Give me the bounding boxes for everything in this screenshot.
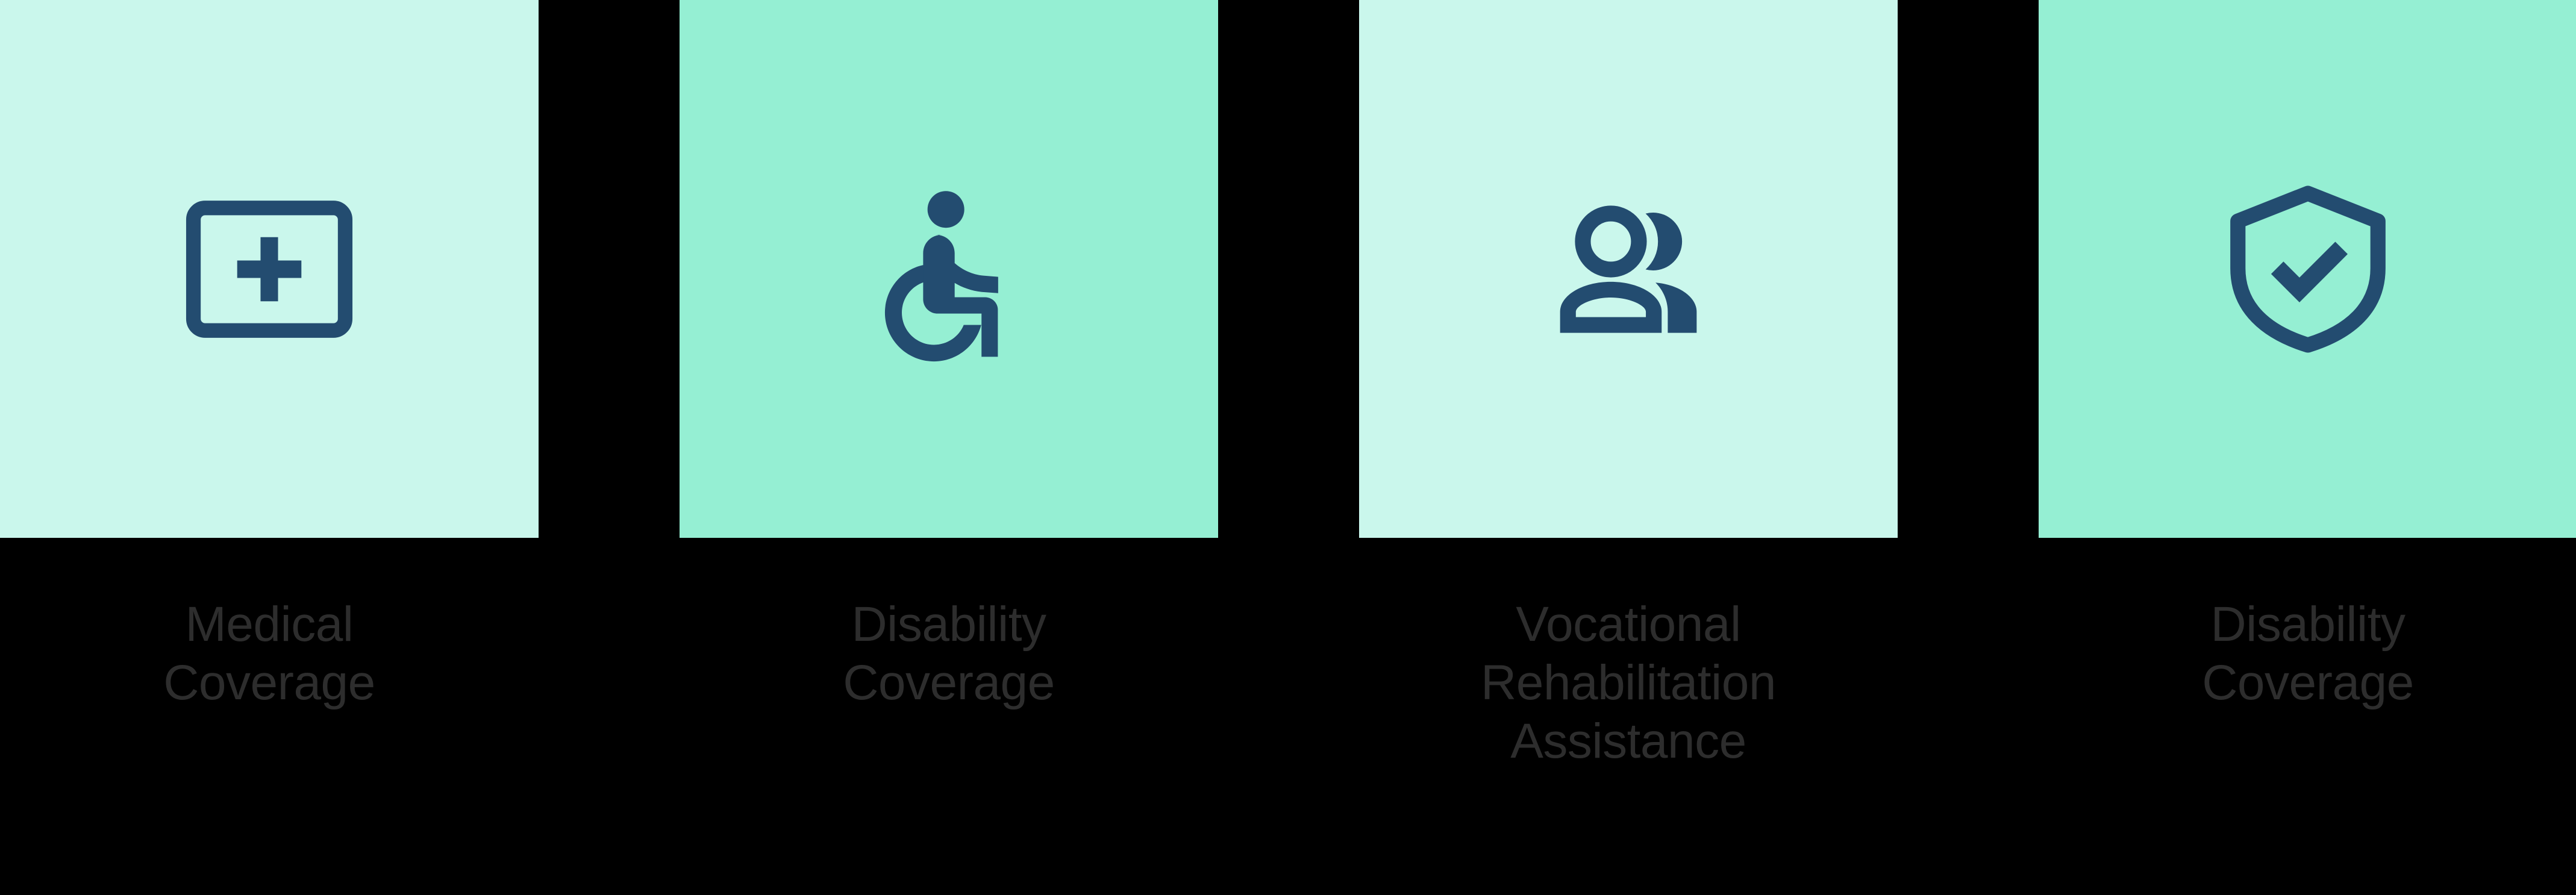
icon-tile-vocational-rehabilitation-assistance [1359,0,1898,538]
benefit-card-label: Disability Coverage [680,596,1218,713]
medical-cross-card-icon [176,176,363,363]
carousel-track[interactable]: Medical Coverage Disability Coverage [0,0,2576,895]
benefit-card-label: Medical Coverage [0,596,539,713]
benefit-card-label: Disability Coverage [2039,596,2576,713]
wheelchair-accessibility-icon [855,176,1042,363]
benefits-carousel[interactable]: Medical Coverage Disability Coverage [0,0,2576,895]
benefit-card-vocational-rehabilitation-assistance[interactable]: Vocational Rehabilitation Assistance [1359,0,1898,770]
benefit-card-disability-coverage[interactable]: Disability Coverage [680,0,1218,713]
icon-tile-disability-coverage [680,0,1218,538]
benefit-card-label: Vocational Rehabilitation Assistance [1359,596,1898,770]
benefit-card-medical-coverage[interactable]: Medical Coverage [0,0,539,713]
people-group-icon [1535,176,1722,363]
shield-check-icon [2215,176,2401,363]
benefit-card-disability-coverage-shield[interactable]: Disability Coverage [2039,0,2576,713]
icon-tile-medical-coverage [0,0,539,538]
icon-tile-disability-coverage-shield [2039,0,2576,538]
